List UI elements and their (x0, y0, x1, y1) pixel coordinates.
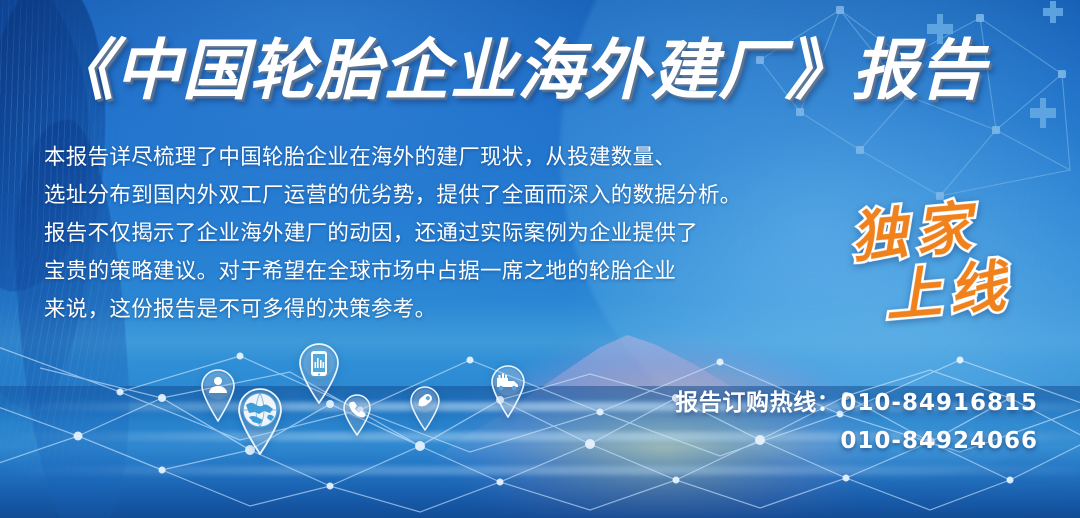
water-stripe (0, 466, 1080, 475)
description-line: 本报告详尽梳理了中国轮胎企业在海外的建厂现状，从投建数量、 (44, 138, 804, 176)
description-line: 来说，这份报告是不可多得的决策参考。 (44, 290, 804, 328)
order-hotline: 报告订购热线：010-84916815 010-84924066 (675, 383, 1038, 460)
mobile-pin-icon (294, 340, 344, 404)
promo-banner: 《中国轮胎企业海外建厂》报告 本报告详尽梳理了中国轮胎企业在海外的建厂现状，从投… (0, 0, 1080, 518)
rocket-pin-icon (406, 383, 444, 431)
truck-pin-icon (486, 362, 530, 418)
exclusive-launch-stamp: 独家 上线 (826, 198, 1036, 358)
description-line: 宝贵的策略建议。对于希望在全球市场中占据一席之地的轮胎企业 (44, 252, 804, 290)
hotline-number-primary[interactable]: 010-84916815 (840, 390, 1038, 416)
hotline-label: 报告订购热线： (675, 389, 840, 415)
description-line: 选址分布到国内外双工厂运营的优劣势，提供了全面而深入的数据分析。 (44, 176, 804, 214)
hotline-row-primary: 报告订购热线：010-84916815 (675, 383, 1038, 422)
banner-description: 本报告详尽梳理了中国轮胎企业在海外的建厂现状，从投建数量、 选址分布到国内外双工… (44, 138, 804, 328)
globe-pin-icon (232, 385, 288, 455)
hotline-number-secondary[interactable]: 010-84924066 (675, 422, 1038, 460)
banner-title: 《中国轮胎企业海外建厂》报告 (48, 36, 1038, 105)
description-line: 报告不仅揭示了企业海外建厂的动因，还通过实际案例为企业提供了 (44, 214, 804, 252)
phone-pin-icon (340, 392, 374, 436)
